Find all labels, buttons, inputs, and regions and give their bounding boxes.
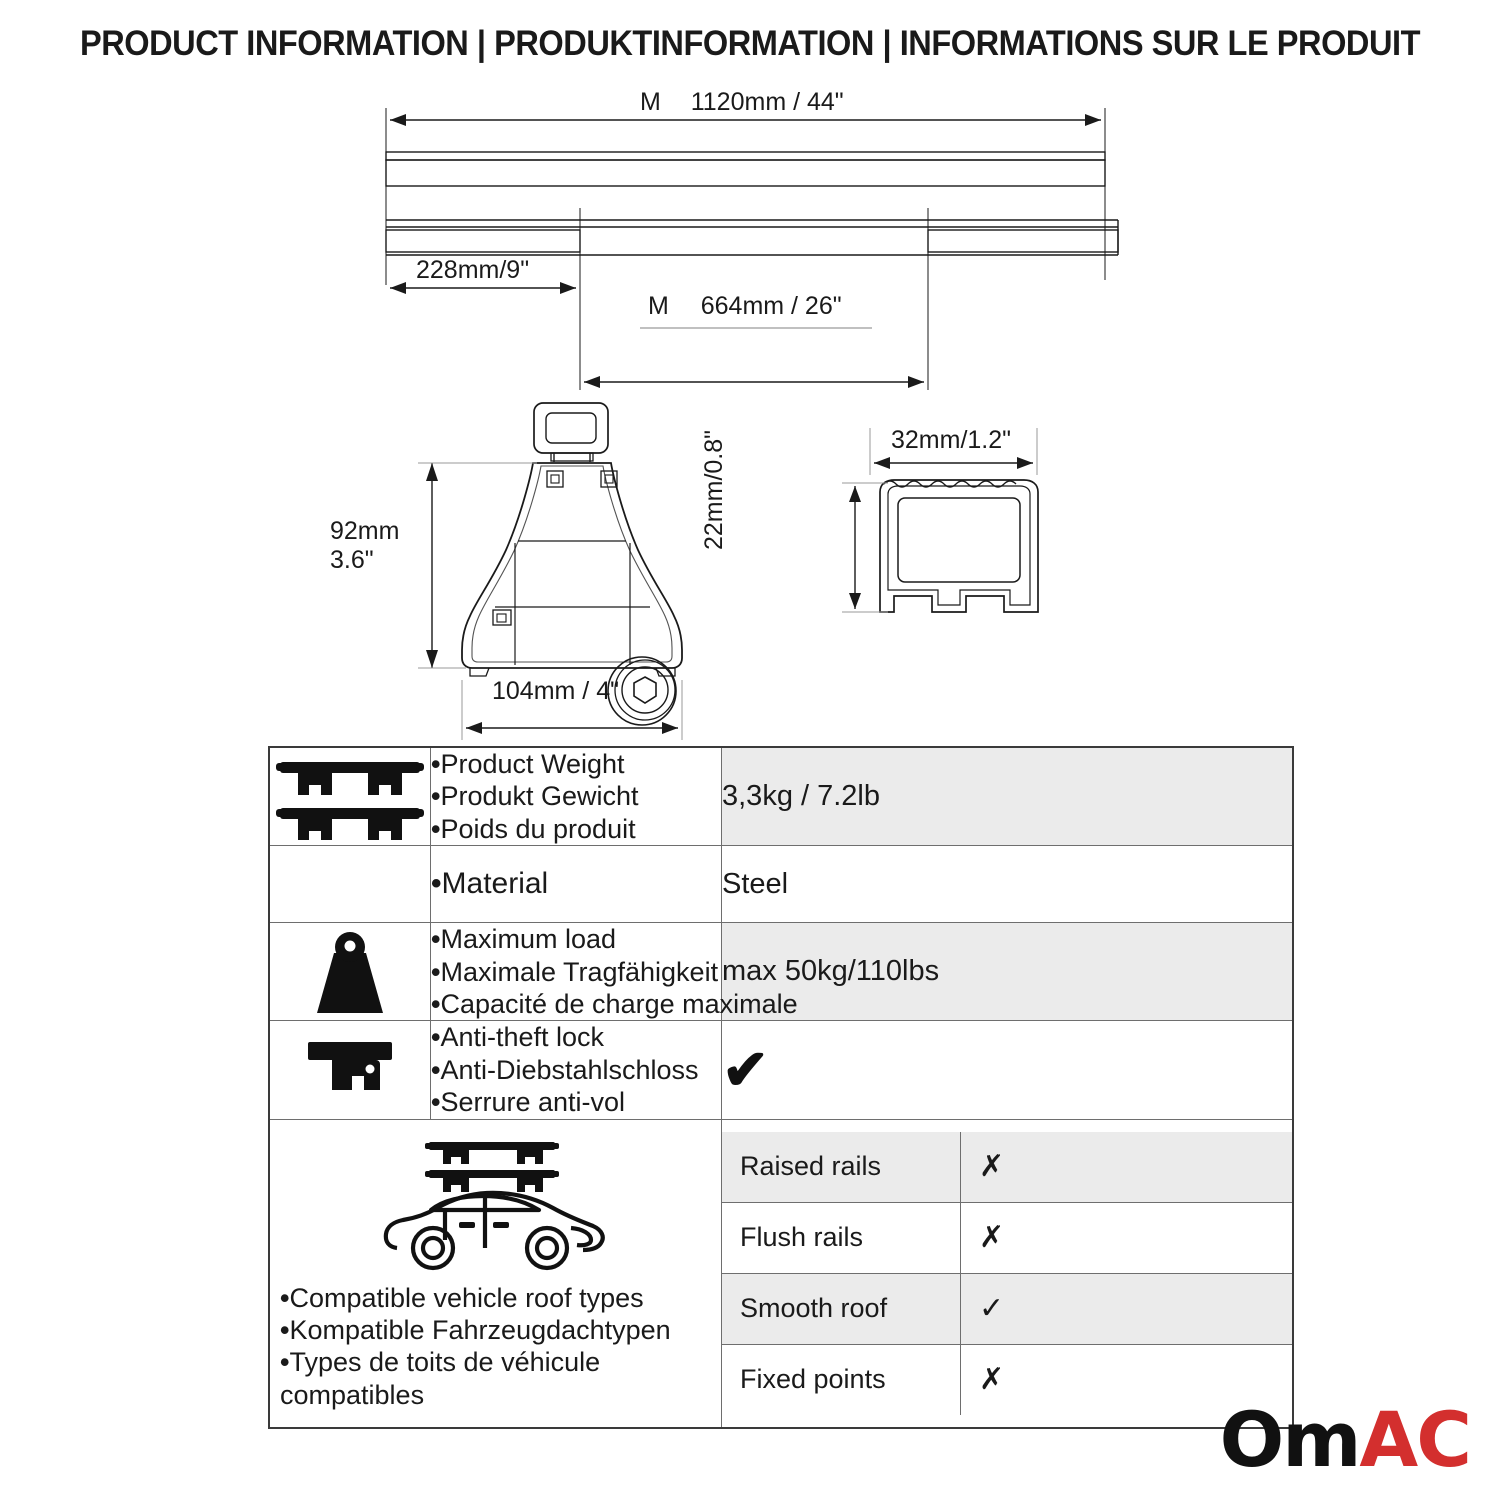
anti-theft-label-fr: Serrure anti-vol bbox=[440, 1087, 625, 1117]
compat-label-flush-rails: Flush rails bbox=[722, 1202, 961, 1273]
maximum-load-labels: •Maximum load •Maximale Tragfähigkeit •C… bbox=[431, 923, 722, 1021]
product-weight-label-en: Product Weight bbox=[440, 749, 624, 779]
maximum-load-value: max 50kg/110lbs bbox=[722, 923, 1294, 1021]
maximum-load-label-fr: Capacité de charge maximale bbox=[440, 989, 797, 1019]
compat-label-fixed-points: Fixed points bbox=[722, 1344, 961, 1415]
roof-types-label-en: Compatible vehicle roof types bbox=[289, 1283, 643, 1313]
table-row: •Maximum load •Maximale Tragfähigkeit •C… bbox=[269, 923, 1293, 1021]
logo-text-dark: Om bbox=[1220, 1395, 1360, 1484]
car-with-roofbars-icon bbox=[371, 1130, 621, 1280]
weight-icon-cell bbox=[269, 923, 431, 1021]
roof-compatibility-subtable-cell: Raised rails ✗ Flush rails ✗ Smooth roof… bbox=[722, 1119, 1294, 1428]
lock-bar-icon bbox=[300, 1032, 400, 1108]
roof-compatibility-table: Raised rails ✗ Flush rails ✗ Smooth roof… bbox=[722, 1132, 1292, 1415]
product-specification-table: •Product Weight •Produkt Gewicht •Poids … bbox=[268, 746, 1294, 1429]
bar-length-prefix: M bbox=[640, 88, 661, 116]
compat-row-flush-rails: Flush rails ✗ bbox=[722, 1202, 1292, 1273]
foot-height-mm: 92mm bbox=[330, 517, 399, 546]
weight-icon bbox=[311, 929, 389, 1015]
anti-theft-check-icon: ✔ bbox=[722, 1042, 1292, 1098]
omac-logo: OmAC bbox=[1220, 1402, 1470, 1478]
profile-height-dimension: 22mm/0.8" bbox=[700, 430, 729, 550]
maximum-load-label-de: Maximale Tragfähigkeit bbox=[440, 957, 718, 987]
table-row: •Material Steel bbox=[269, 846, 1293, 923]
foot-height-inch: 3.6" bbox=[330, 546, 374, 575]
compat-label-smooth-roof: Smooth roof bbox=[722, 1273, 961, 1344]
roof-types-label-de: Kompatible Fahrzeugdachtypen bbox=[289, 1315, 670, 1345]
maximum-load-label-en: Maximum load bbox=[440, 924, 616, 954]
product-weight-label-fr: Poids du produit bbox=[440, 814, 635, 844]
end-offset-dimension: 228mm/9" bbox=[416, 256, 529, 285]
product-weight-label-de: Produkt Gewicht bbox=[440, 781, 638, 811]
anti-theft-labels: •Anti-theft lock •Anti-Diebstahlschloss … bbox=[431, 1021, 722, 1119]
page-title: PRODUCT INFORMATION | PRODUKTINFORMATION… bbox=[53, 24, 1448, 64]
profile-width-dimension: 32mm/1.2" bbox=[891, 426, 1011, 455]
roof-compatibility-labels-cell: •Compatible vehicle roof types •Kompatib… bbox=[269, 1119, 722, 1428]
crossbars-icon bbox=[276, 754, 424, 840]
material-label: Material bbox=[442, 867, 549, 900]
table-row: •Compatible vehicle roof types •Kompatib… bbox=[269, 1119, 1293, 1428]
foot-spacing-value: 664mm / 26" bbox=[701, 292, 842, 320]
material-labels: •Material bbox=[431, 846, 722, 923]
foot-spacing-prefix: M bbox=[648, 292, 669, 320]
table-row: •Product Weight •Produkt Gewicht •Poids … bbox=[269, 747, 1293, 846]
anti-theft-label-de: Anti-Diebstahlschloss bbox=[440, 1055, 698, 1085]
bar-length-value: 1120mm / 44" bbox=[691, 88, 844, 116]
compat-mark-raised-rails: ✗ bbox=[961, 1132, 1293, 1203]
anti-theft-label-en: Anti-theft lock bbox=[440, 1022, 604, 1052]
product-weight-value: 3,3kg / 7.2lb bbox=[722, 747, 1294, 846]
product-weight-labels: •Product Weight •Produkt Gewicht •Poids … bbox=[431, 747, 722, 846]
material-value: Steel bbox=[722, 846, 1294, 923]
compat-row-raised-rails: Raised rails ✗ bbox=[722, 1132, 1292, 1203]
compat-mark-smooth-roof: ✓ bbox=[961, 1273, 1293, 1344]
lock-bar-icon-cell bbox=[269, 1021, 431, 1119]
foot-width-dimension: 104mm / 4" bbox=[492, 677, 619, 706]
crossbars-icon-cell bbox=[269, 747, 431, 846]
technical-drawing: M 1120mm / 44" 228mm/9" M 664mm / 26" 92… bbox=[0, 80, 1500, 740]
compat-row-fixed-points: Fixed points ✗ bbox=[722, 1344, 1292, 1415]
anti-theft-value-cell: ✔ bbox=[722, 1021, 1294, 1119]
compat-label-raised-rails: Raised rails bbox=[722, 1132, 961, 1203]
table-row: •Anti-theft lock •Anti-Diebstahlschloss … bbox=[269, 1021, 1293, 1119]
compat-mark-flush-rails: ✗ bbox=[961, 1202, 1293, 1273]
roof-types-label-fr: Types de toits de véhicule compatibles bbox=[280, 1347, 600, 1409]
compat-row-smooth-roof: Smooth roof ✓ bbox=[722, 1273, 1292, 1344]
drawing-svg bbox=[0, 80, 1500, 740]
material-icon-cell bbox=[269, 846, 431, 923]
logo-text-accent: AC bbox=[1359, 1395, 1470, 1484]
